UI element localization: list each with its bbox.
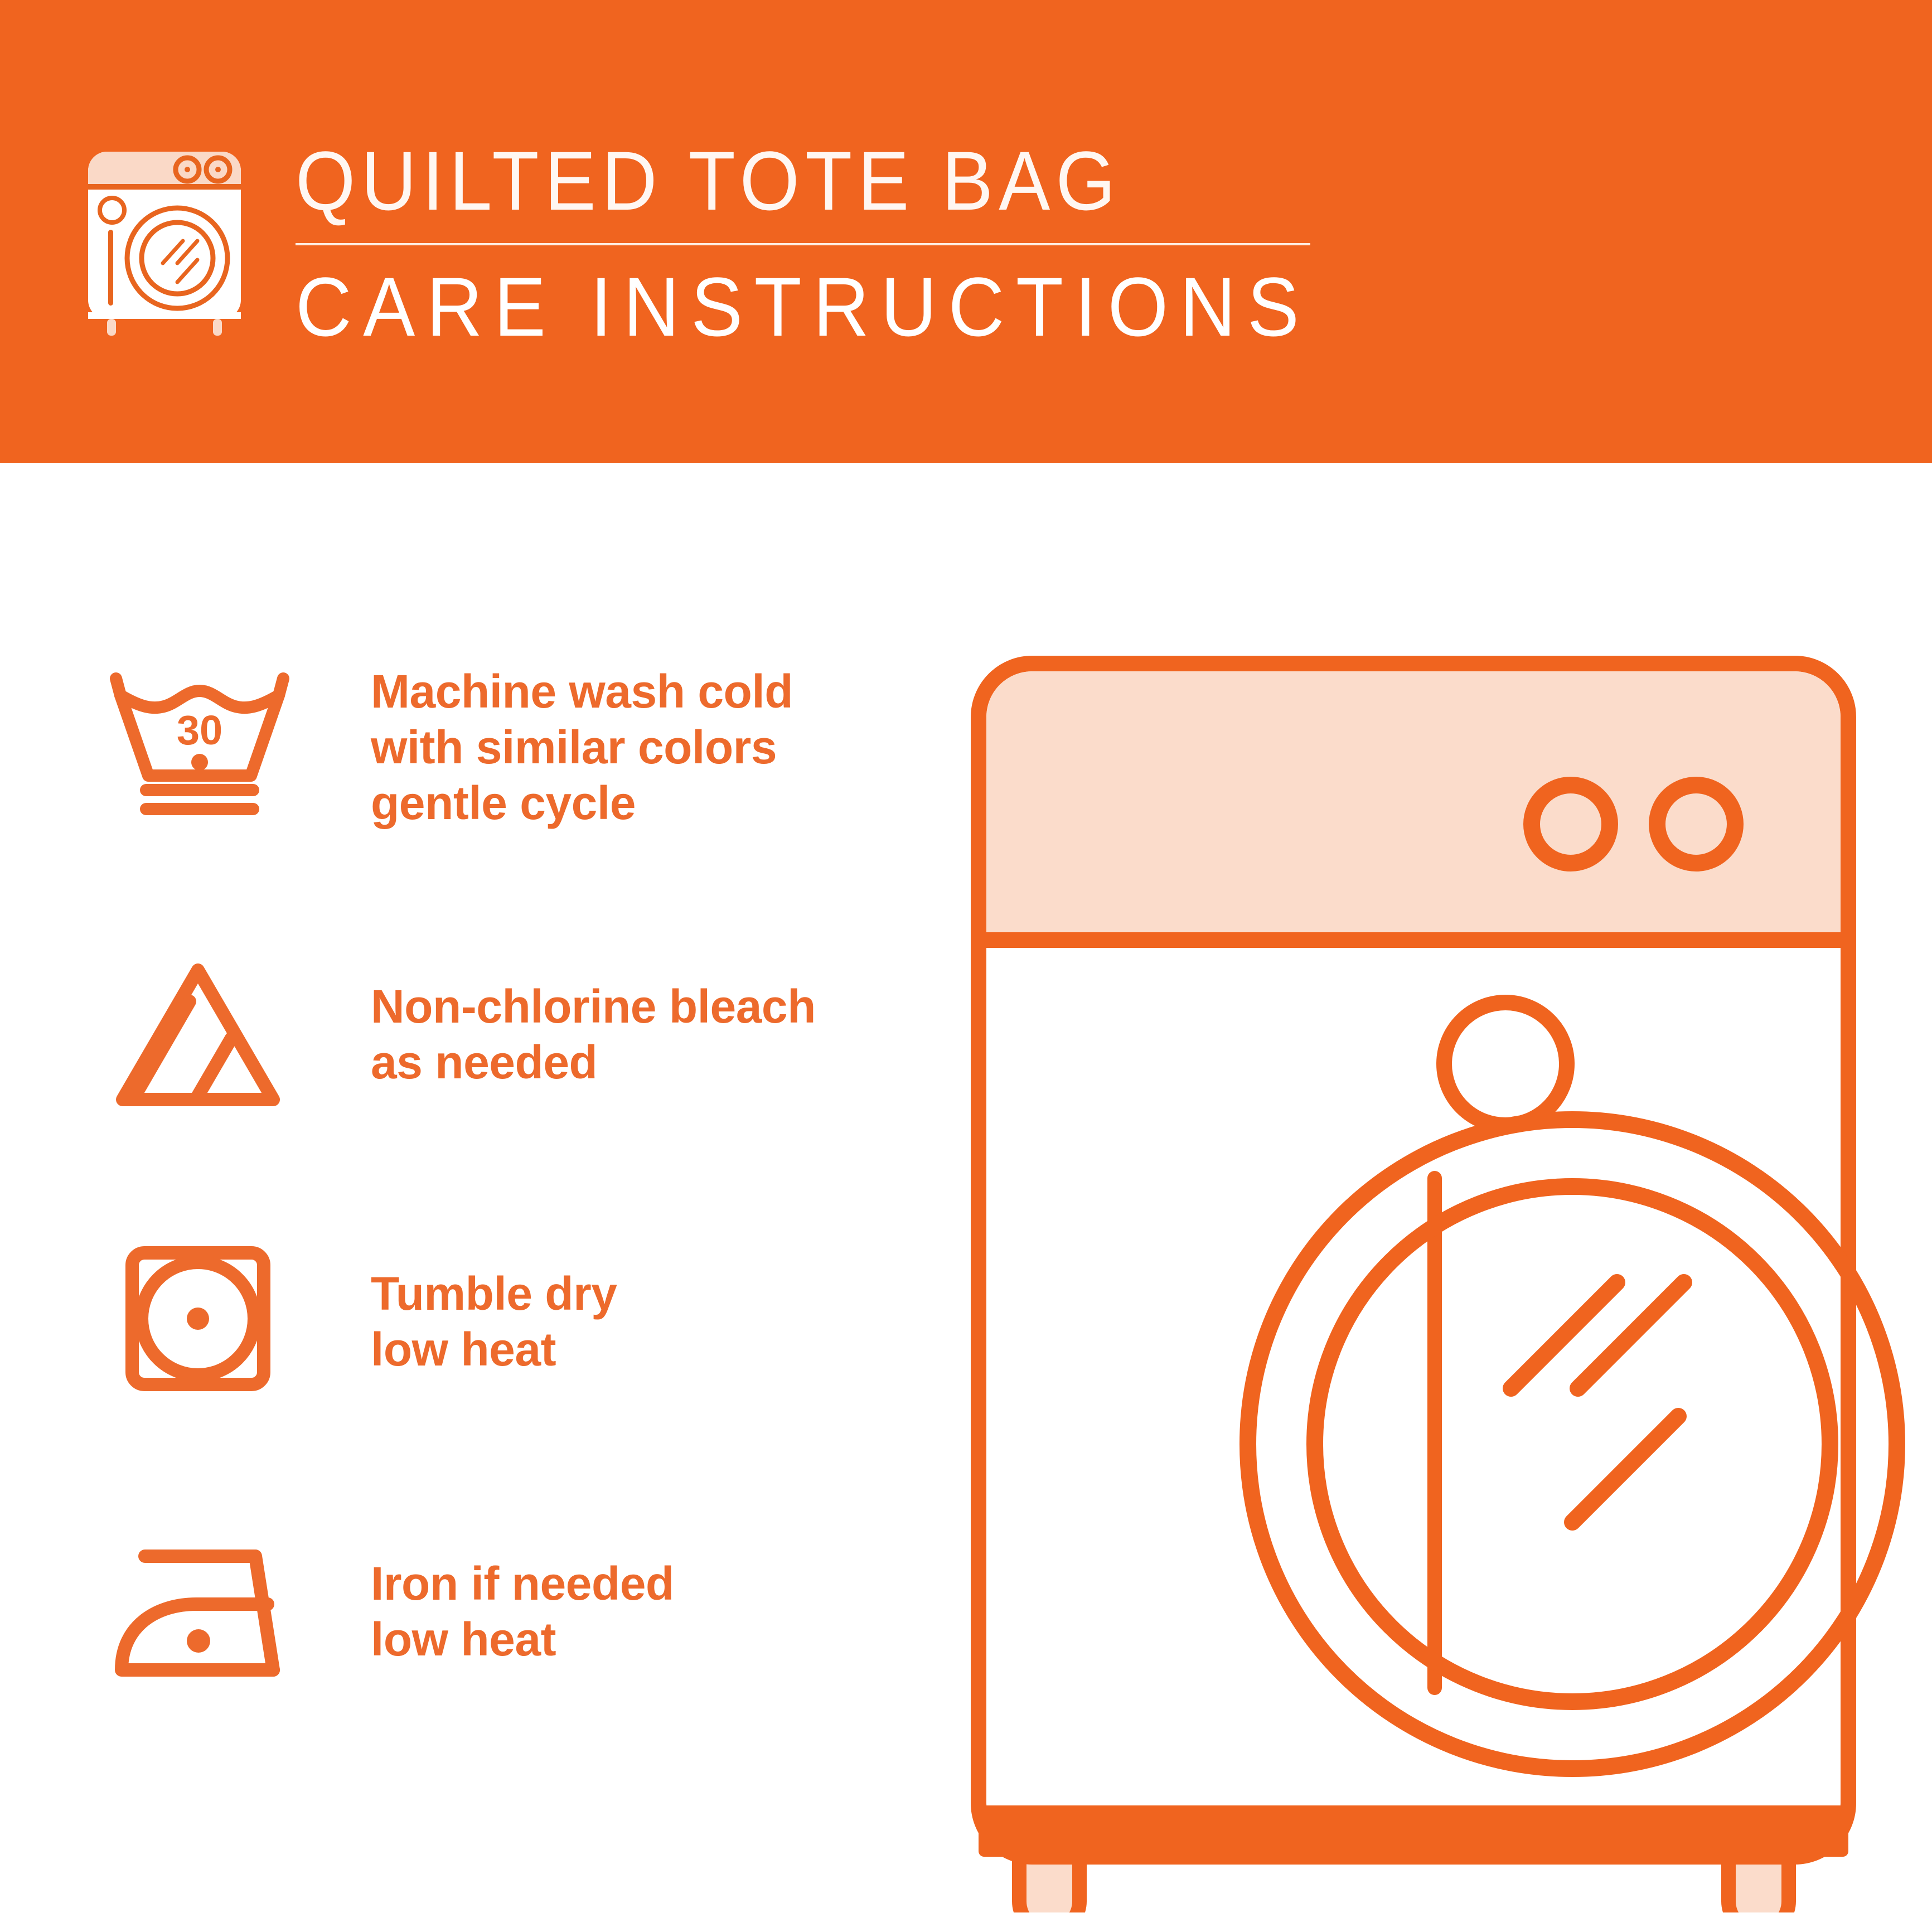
page-subtitle: CARE INSTRUCTIONS	[296, 262, 1310, 351]
care-item-label: Iron if needed low heat	[371, 1556, 674, 1667]
svg-text:30: 30	[177, 707, 222, 753]
header-titles: QUILTED TOTE BAG CARE INSTRUCTIONS	[296, 134, 1387, 351]
wash-tub-30-gentle-icon: 30	[86, 647, 309, 848]
door-handle	[1427, 1171, 1442, 1695]
care-item-tumble-dry: Tumble dry low heat	[86, 1221, 923, 1422]
care-item-label: Non-chlorine bleach as needed	[371, 979, 816, 1090]
care-item-label: Machine wash cold with similar colors ge…	[371, 664, 793, 831]
title-divider	[296, 243, 1310, 245]
washing-machine-illustration	[948, 613, 1907, 1912]
page-title: QUILTED TOTE BAG	[296, 136, 1300, 225]
care-instruction-list: 30 Machine wash cold with similar colors…	[0, 463, 948, 1932]
header-banner: QUILTED TOTE BAG CARE INSTRUCTIONS	[0, 0, 1932, 463]
tumble-dry-low-icon	[86, 1221, 309, 1422]
non-chlorine-bleach-triangle-icon	[86, 934, 309, 1135]
iron-low-heat-icon	[86, 1511, 309, 1712]
care-item-bleach: Non-chlorine bleach as needed	[86, 934, 923, 1135]
washing-machine-icon	[84, 145, 245, 337]
header-content: QUILTED TOTE BAG CARE INSTRUCTIONS	[84, 134, 1387, 351]
care-item-machine-wash: 30 Machine wash cold with similar colors…	[86, 647, 923, 848]
care-item-iron: Iron if needed low heat	[86, 1511, 923, 1712]
care-item-label: Tumble dry low heat	[371, 1266, 617, 1377]
